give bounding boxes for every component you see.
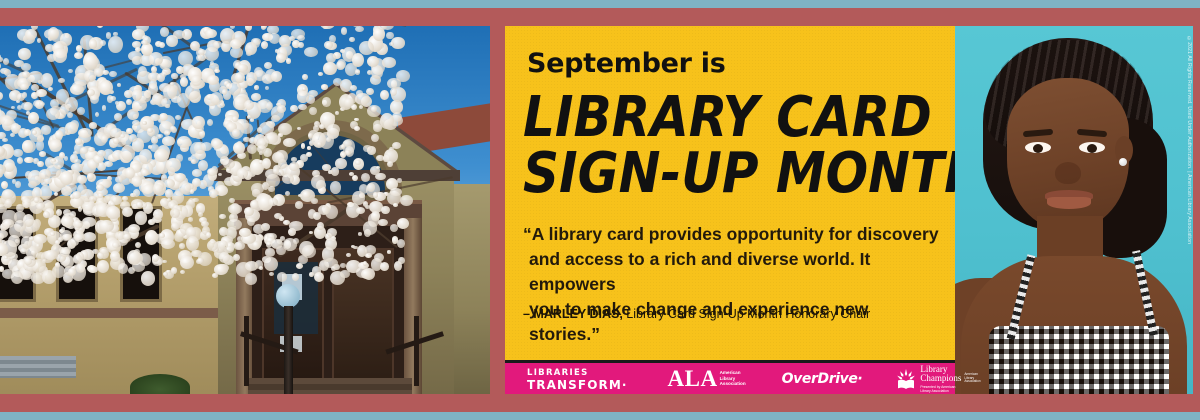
libraries-transform-logo[interactable]: LIBRARIES TRANSFORM· [527, 368, 628, 390]
lamp-post [284, 306, 293, 394]
attribution-name: – MARLEY DIAS, [523, 307, 623, 321]
ala-subtext: American Library Association [720, 370, 746, 386]
entry-door [262, 248, 324, 394]
nose [1055, 162, 1081, 184]
overdrive-wordmark: OverDrive· [782, 371, 863, 387]
attribution-role: Library Card Sign-Up Month Honorary Chai… [626, 307, 870, 321]
bench [0, 356, 76, 378]
library-card-signup-poster: September is LIBRARY CARD SIGN-UP MONTH!… [505, 26, 1193, 394]
library-champions-tagline: Presented by American Library Associatio… [920, 385, 961, 393]
libraries-transform-line1: LIBRARIES [527, 368, 628, 378]
ala-sub3: Association [720, 381, 746, 386]
ala-logo[interactable]: ALA American Library Association [668, 367, 746, 390]
quote-line-3: you to make change and experience new st… [523, 297, 943, 347]
quote-text: “A library card provides opportunity for… [523, 222, 943, 347]
quote-line-1: “A library card provides opportunity for… [523, 222, 943, 247]
library-entrance-block [218, 86, 490, 394]
quote-attribution: – MARLEY DIAS, Library Card Sign-Up Mont… [523, 307, 870, 321]
pupil [1033, 144, 1043, 153]
poster-yellow-panel: September is LIBRARY CARD SIGN-UP MONTH!… [505, 26, 955, 360]
library-champions-text: Library Champions Presented by American … [920, 365, 961, 393]
window-sill [0, 308, 230, 318]
library-champions-logo[interactable]: Library Champions Presented by American … [896, 365, 980, 393]
pupil [1087, 144, 1097, 153]
sponsor-logo-bar: LIBRARIES TRANSFORM· ALA American Librar… [505, 360, 955, 394]
library-left-wing [0, 196, 224, 394]
window [120, 206, 162, 302]
lower-lip [1047, 197, 1091, 209]
gingham-top [989, 326, 1169, 394]
ala-wordmark: ALA [668, 367, 718, 390]
shrub [130, 374, 190, 394]
library-champions-mark-icon [896, 368, 916, 390]
headline-line-1: LIBRARY CARD [523, 88, 932, 146]
headline-kicker: September is [527, 48, 726, 79]
pilaster [404, 218, 422, 394]
entry-steps [248, 378, 412, 394]
library-champions-side-text: American Library Association [964, 373, 980, 384]
library-champions-line2: Champions [920, 374, 961, 384]
eye [1079, 142, 1105, 153]
quote-line-2: and access to a rich and diverse world. … [523, 247, 943, 297]
marley-dias-portrait: ©2021 All Rights Reserved. Used Under Au… [955, 26, 1193, 394]
entablature [234, 200, 422, 226]
headline-line-2: SIGN-UP MONTH! [523, 144, 1009, 202]
entry-recess [252, 226, 404, 394]
ala-sub1: American [720, 370, 741, 375]
copyright-notice: ©2021 All Rights Reserved. Used Under Au… [1186, 36, 1192, 244]
earring [1119, 158, 1127, 166]
entry-door [332, 248, 394, 394]
window [0, 206, 36, 302]
handrail [244, 316, 249, 386]
libraries-transform-line2: TRANSFORM· [527, 380, 628, 390]
handrail [414, 316, 419, 386]
ala-sub2: Library [720, 376, 736, 381]
window [56, 206, 98, 302]
eye [1025, 142, 1051, 153]
cornice [214, 170, 460, 181]
lamp-globe [276, 284, 300, 308]
library-building-photo [0, 26, 490, 394]
overdrive-logo[interactable]: OverDrive· [782, 371, 863, 387]
